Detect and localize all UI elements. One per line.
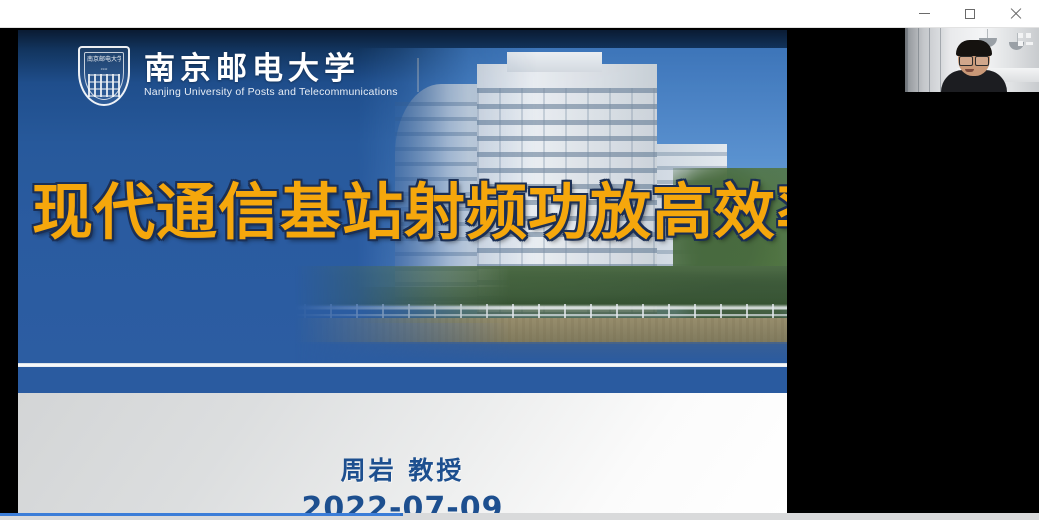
grid-layout-icon[interactable] [1018, 33, 1033, 46]
university-name-cn: 南京邮电大学 [144, 53, 398, 86]
presenter-figure [941, 44, 1007, 92]
campus-landscape-photo [18, 266, 787, 363]
window-title-bar [0, 0, 1039, 28]
crest-founded-year: 1942 [86, 67, 122, 72]
crest-emblem-mark [88, 74, 120, 97]
presenter-webcam-overlay[interactable] [905, 28, 1039, 92]
minimize-icon [919, 13, 930, 14]
maximize-icon [965, 9, 975, 19]
slide-blue-band [18, 367, 787, 393]
university-logo: 南京邮电大学 1942 南京邮电大学 Nanjing University of… [78, 46, 398, 106]
landscape-bank [18, 318, 787, 344]
building-mast [417, 58, 419, 92]
landscape-hedge [18, 266, 787, 306]
presenter-hair [956, 40, 992, 56]
close-icon [1010, 8, 1022, 20]
presentation-slide[interactable]: 南京邮电大学 1942 南京邮电大学 Nanjing University of… [18, 30, 787, 520]
building-roof-cap [507, 52, 602, 72]
webcam-window-blinds [907, 28, 941, 92]
maximize-button[interactable] [947, 0, 993, 28]
crest-name-cn: 南京邮电大学 [87, 55, 121, 66]
presentation-player-window: 南京邮电大学 1942 南京邮电大学 Nanjing University of… [0, 0, 1039, 520]
university-crest-icon: 南京邮电大学 1942 [78, 46, 130, 106]
university-name-en: Nanjing University of Posts and Telecomm… [144, 87, 398, 99]
playback-progress-bar[interactable] [0, 513, 1039, 520]
slide-headline: 现代通信基站射频功放高效率供电方法 [32, 182, 787, 243]
playback-progress-handle[interactable] [400, 513, 403, 516]
playback-progress-fill [0, 513, 400, 516]
minimize-button[interactable] [901, 0, 947, 28]
presenter-glasses [959, 56, 989, 64]
landscape-water [18, 342, 787, 363]
university-wordmark: 南京邮电大学 Nanjing University of Posts and T… [144, 53, 398, 98]
presenter-name: 周岩 教授 [18, 451, 787, 487]
close-button[interactable] [993, 0, 1039, 28]
slide-footer-panel: 周岩 教授 2022-07-09 [18, 393, 787, 520]
slide-stage[interactable]: 南京邮电大学 1942 南京邮电大学 Nanjing University of… [0, 28, 1039, 512]
